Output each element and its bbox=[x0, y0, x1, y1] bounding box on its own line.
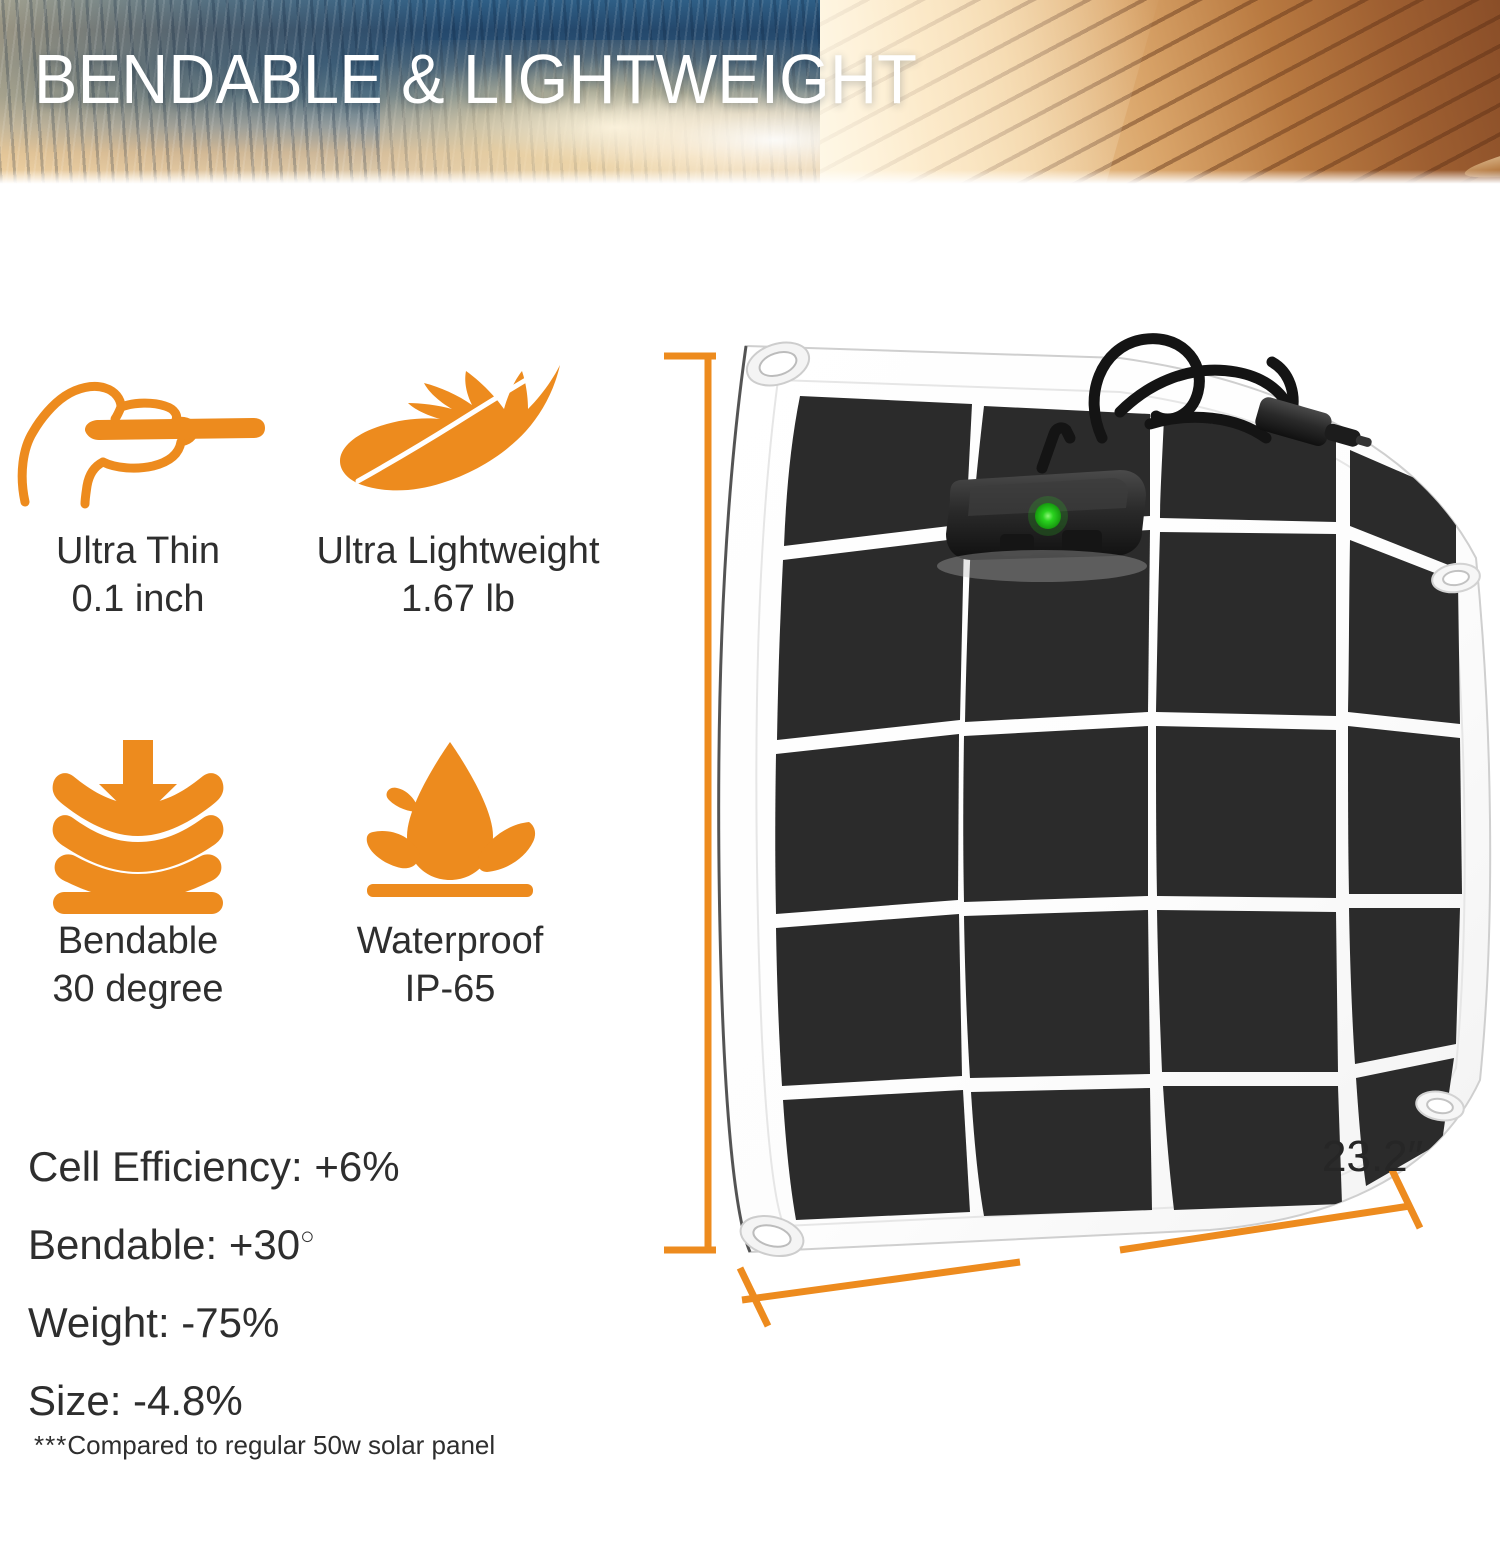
feature-label: Waterproof bbox=[300, 918, 600, 966]
feature-label: Bendable bbox=[0, 918, 288, 966]
spec-row: Size: -4.8% bbox=[28, 1380, 588, 1422]
dimension-height-label: 23.2″ bbox=[1322, 1132, 1423, 1182]
spec-row: Weight: -75% bbox=[28, 1302, 588, 1344]
water-drop-splash-icon bbox=[300, 742, 600, 912]
spec-text: Bendable: +30 bbox=[28, 1221, 300, 1268]
spec-text: Weight: -75% bbox=[28, 1299, 279, 1346]
feature-value: IP-65 bbox=[300, 966, 600, 1014]
hand-pinching-thin-sheet-icon bbox=[0, 352, 288, 522]
hero-banner: BENDABLE & LIGHTWEIGHT bbox=[0, 0, 1500, 186]
flex-layers-arrow-icon bbox=[0, 742, 288, 912]
footnote-text: Compared to regular 50w solar panel bbox=[67, 1430, 495, 1460]
feature-value: 0.1 inch bbox=[0, 576, 288, 624]
spec-text: Cell Efficiency: +6% bbox=[28, 1143, 400, 1190]
dim-width-line-left bbox=[742, 1262, 1020, 1300]
wooden-boat-backdrop bbox=[820, 0, 1500, 186]
footnote: ***Compared to regular 50w solar panel bbox=[34, 1430, 495, 1461]
feature-value: 1.67 lb bbox=[308, 576, 608, 624]
feature-value: 30 degree bbox=[0, 966, 288, 1014]
feature-bendable: Bendable 30 degree bbox=[0, 742, 288, 1014]
spec-text: Size: -4.8% bbox=[28, 1377, 243, 1424]
degree-symbol: ○ bbox=[300, 1223, 315, 1250]
spec-row: Cell Efficiency: +6% bbox=[28, 1146, 588, 1188]
boat-hull-rim bbox=[1461, 55, 1500, 186]
feature-waterproof: Waterproof IP-65 bbox=[300, 742, 600, 1014]
spec-list: Cell Efficiency: +6% Bendable: +30○ Weig… bbox=[28, 1146, 588, 1458]
spec-row: Bendable: +30○ bbox=[28, 1224, 588, 1266]
feature-ultra-lightweight: Ultra Lightweight 1.67 lb bbox=[308, 352, 608, 624]
footnote-stars: *** bbox=[34, 1430, 67, 1460]
hero-title: BENDABLE & LIGHTWEIGHT bbox=[34, 44, 917, 114]
feature-label: Ultra Lightweight bbox=[308, 528, 608, 576]
product-image-flexible-solar-panel: 23.2″ 21.3″ bbox=[650, 320, 1500, 1330]
hero-bottom-fade bbox=[0, 170, 1500, 186]
feature-label: Ultra Thin bbox=[0, 528, 288, 576]
feature-ultra-thin: Ultra Thin 0.1 inch bbox=[0, 352, 288, 624]
feather-icon bbox=[308, 352, 608, 522]
